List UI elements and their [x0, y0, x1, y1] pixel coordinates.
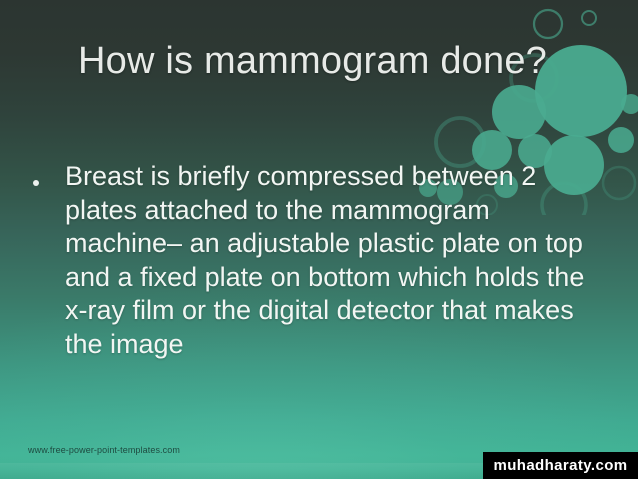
- template-watermark: www.free-power-point-templates.com: [28, 445, 180, 455]
- content-bullet-list: Breast is briefly compressed between 2 p…: [33, 160, 603, 361]
- bullet-marker: [33, 160, 65, 192]
- brand-banner: muhadharaty.com: [483, 452, 638, 479]
- slide-title: How is mammogram done?: [78, 38, 547, 84]
- brand-label: muhadharaty.com: [493, 457, 627, 474]
- bullet-item-text: Breast is briefly compressed between 2 p…: [65, 160, 603, 361]
- presentation-slide: How is mammogram done? Breast is briefly…: [0, 0, 638, 479]
